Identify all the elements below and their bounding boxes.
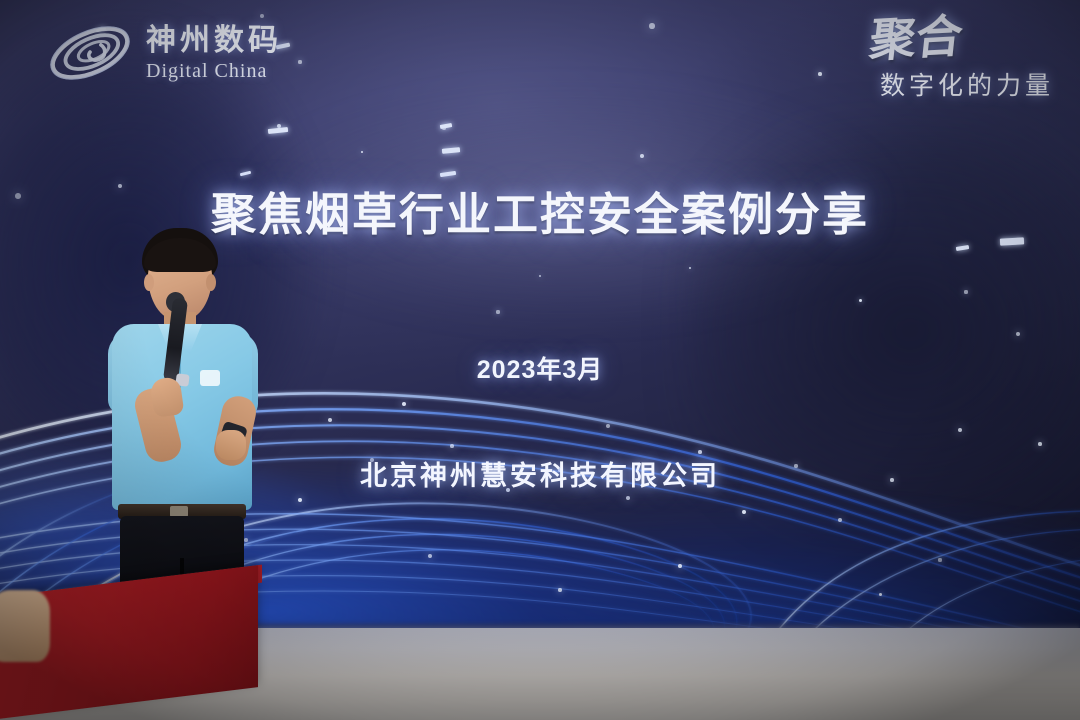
digital-china-logo: 神州数码 Digital China — [44, 14, 282, 92]
speaker-hand-right — [216, 430, 246, 460]
speaker-figure — [104, 228, 274, 620]
brand-name-en: Digital China — [146, 61, 282, 81]
shirt-logo-icon — [200, 370, 220, 386]
event-calligraphy: 聚合 — [867, 16, 964, 63]
event-logo: 聚合 数字化的力量 — [870, 18, 1054, 102]
light-particle — [649, 23, 654, 28]
speaker-ear-left — [144, 274, 154, 291]
event-tagline: 数字化的力量 — [870, 66, 1054, 102]
digital-china-swirl-icon — [44, 14, 136, 92]
stage-photo-scene: 神州数码 Digital China 聚合 数字化的力量 聚焦烟草行业工控安全案… — [0, 0, 1080, 720]
speaker-ear-right — [206, 274, 216, 291]
brand-name-cn: 神州数码 — [146, 26, 282, 56]
light-particle — [818, 72, 822, 76]
seated-attendee — [0, 590, 50, 662]
